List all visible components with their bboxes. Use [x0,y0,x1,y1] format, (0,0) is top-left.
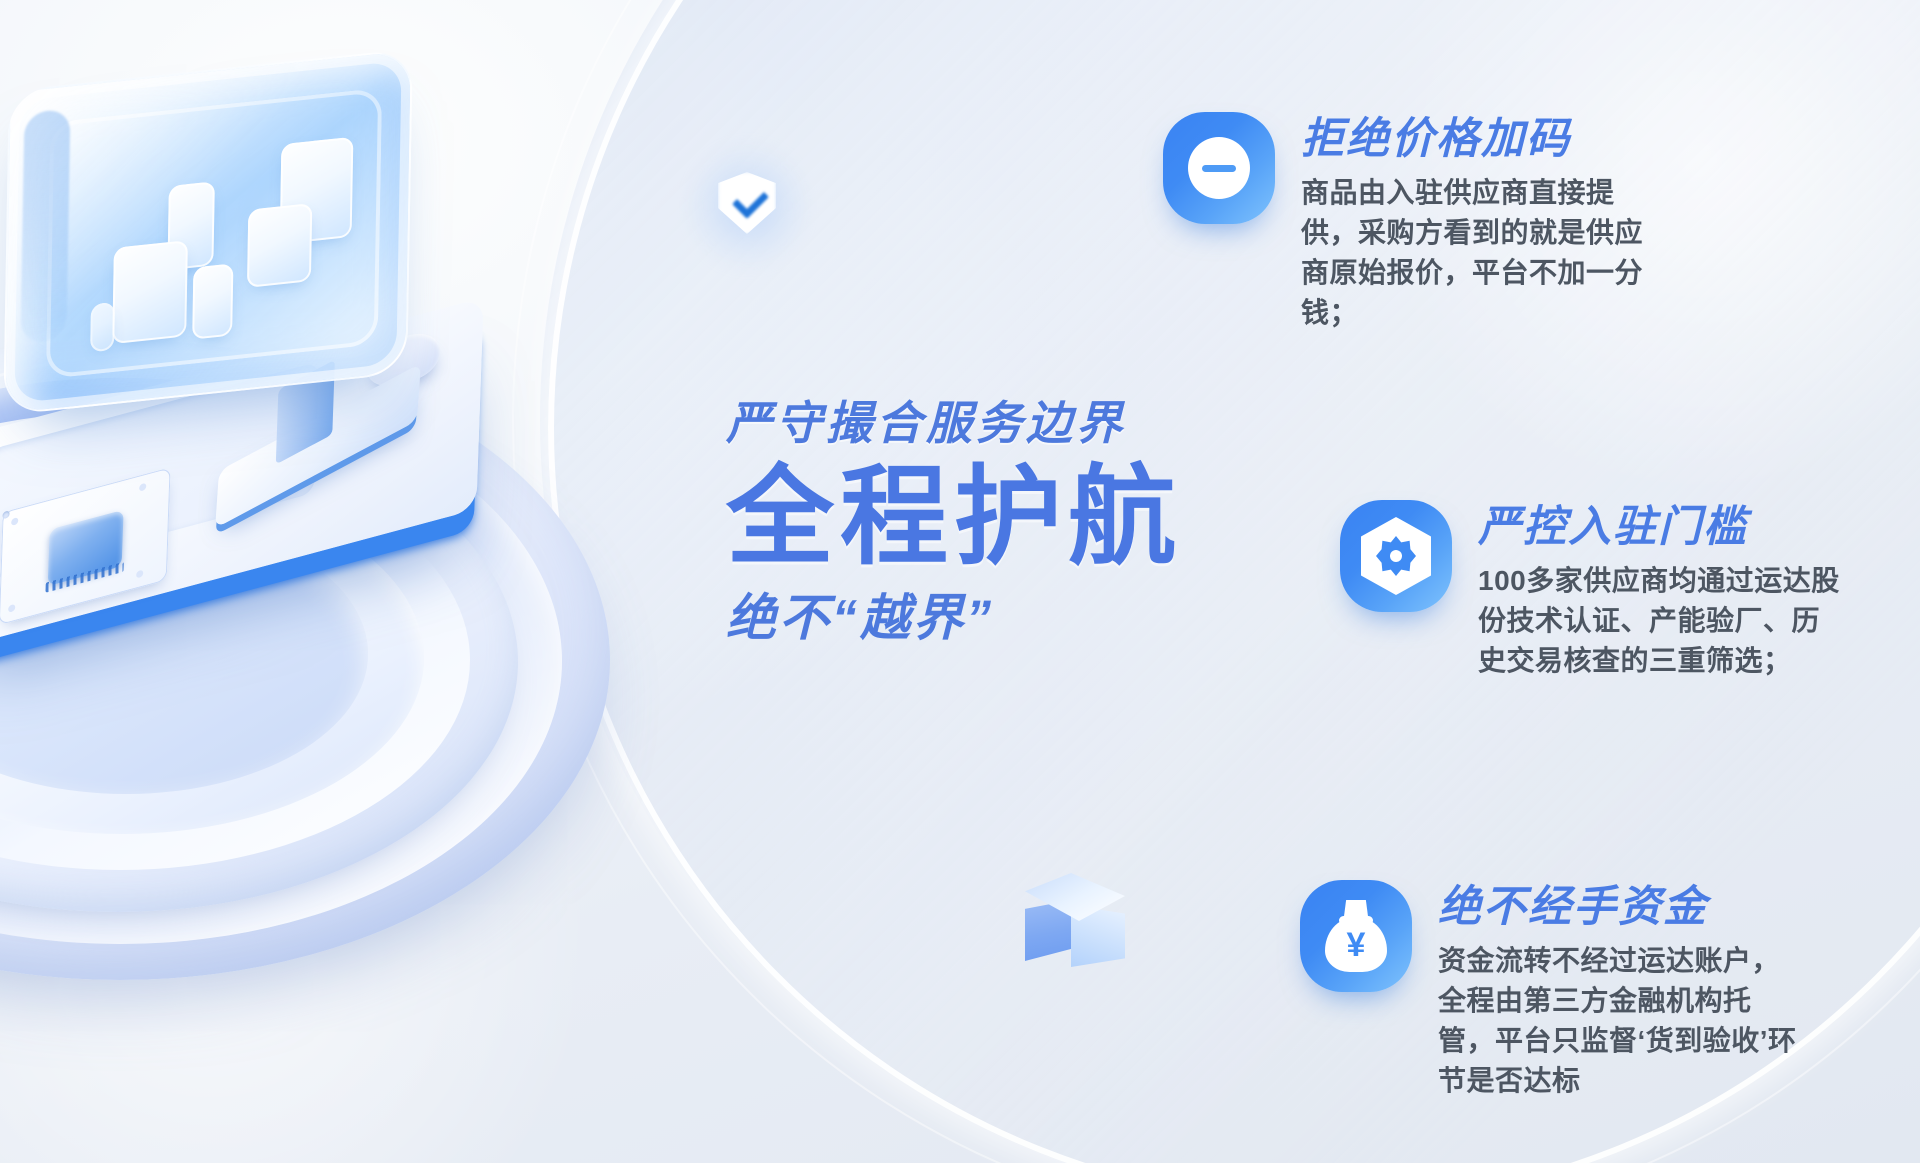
feature-title-3: 绝不经手资金 [1438,884,1806,931]
money-bag-icon: ¥ [1300,880,1412,992]
hexagon-shield-glyph [1361,517,1431,595]
hero-illustration [0,300,710,1060]
minus-circle-icon [1163,112,1275,224]
feature-text-1: 拒绝价格加码 商品由入驻供应商直接提供，采购方看到的就是供应商原始报价，平台不加… [1301,112,1669,332]
yen-symbol-icon: ¥ [1323,926,1389,964]
glass-monitor-3d [3,48,413,415]
headline-subtitle: 严守撮合服务边界 [726,398,1346,449]
podium-3d [0,300,690,1000]
feature-item-1: 拒绝价格加码 商品由入驻供应商直接提供，采购方看到的就是供应商原始报价，平台不加… [1163,112,1669,332]
feature-title-1: 拒绝价格加码 [1301,116,1669,163]
feature-item-3: ¥ 绝不经手资金 资金流转不经过运达账户，全程由第三方金融机构托管，平台只监督‘… [1300,880,1806,1100]
headline-tagline: 绝不“越界” [726,591,1346,646]
feature-desc-1: 商品由入驻供应商直接提供，采购方看到的就是供应商原始报价，平台不加一分钱； [1301,173,1669,332]
cube-3d [1021,877,1125,981]
gear-shield-icon [1340,500,1452,612]
banner-stage: 严守撮合服务边界 全程护航 绝不“越界” 拒绝价格加码 商品由入驻供应商直接提供… [0,0,1920,1163]
gear-glyph [1376,536,1416,576]
feature-text-3: 绝不经手资金 资金流转不经过运达账户，全程由第三方金融机构托管，平台只监督‘货到… [1438,880,1806,1100]
feature-item-2: 严控入驻门槛 100多家供应商均通过运达股份技术认证、产能验厂、历史交易核查的三… [1340,500,1846,681]
feature-desc-2: 100多家供应商均通过运达股份技术认证、产能验厂、历史交易核查的三重筛选； [1478,561,1846,680]
headline-block: 严守撮合服务边界 全程护航 绝不“越界” [726,398,1346,646]
money-bag-glyph: ¥ [1323,900,1389,972]
feature-title-2: 严控入驻门槛 [1478,504,1846,551]
feature-text-2: 严控入驻门槛 100多家供应商均通过运达股份技术认证、产能验厂、历史交易核查的三… [1478,500,1846,681]
minus-circle-glyph [1188,137,1250,199]
feature-desc-3: 资金流转不经过运达账户，全程由第三方金融机构托管，平台只监督‘货到验收’环节是否… [1438,941,1806,1100]
headline-title: 全程护航 [726,455,1346,579]
